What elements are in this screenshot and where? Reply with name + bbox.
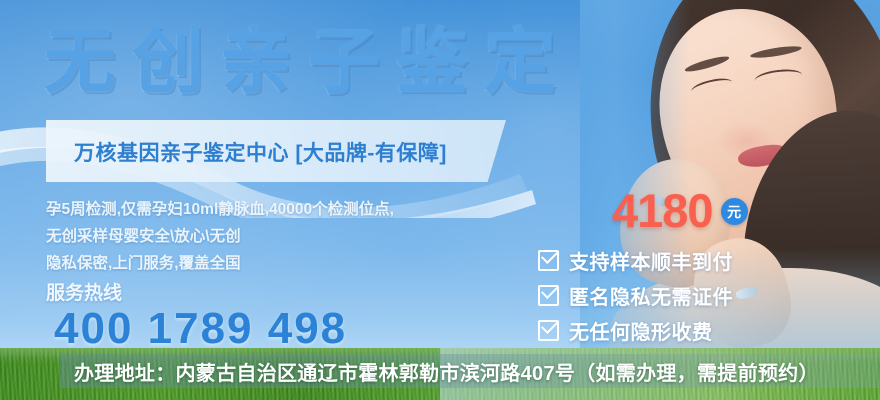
feature-list: 支持样本顺丰到付 匿名隐私无需证件 无任何隐形收费: [538, 243, 733, 348]
feature-label: 无任何隐形收费: [569, 316, 713, 345]
currency-unit-badge: 元: [721, 198, 748, 225]
list-item: 支持样本顺丰到付: [538, 243, 733, 278]
advertisement-banner: 无创亲子鉴定 万核基因亲子鉴定中心 [大品牌-有保障] 孕5周检测,仅需孕妇10…: [0, 0, 880, 400]
description-line: 隐私保密,上门服务,覆盖全国: [46, 250, 476, 277]
description-block: 孕5周检测,仅需孕妇10ml静脉血,40000个检测位点, 无创采样母婴安全\放…: [46, 196, 476, 277]
address-text: 办理地址：内蒙古自治区通辽市霍林郭勒市滨河路407号（如需办理，需提前预约）: [60, 357, 819, 386]
list-item: 无任何隐形收费: [538, 313, 733, 348]
description-line: 无创采样母婴安全\放心\无创: [46, 223, 476, 250]
description-line: 孕5周检测,仅需孕妇10ml静脉血,40000个检测位点,: [46, 196, 476, 223]
check-box-icon: [538, 285, 559, 306]
address-bar: 办理地址：内蒙古自治区通辽市霍林郭勒市滨河路407号（如需办理，需提前预约）: [60, 354, 880, 388]
check-box-icon: [538, 320, 559, 341]
brand-banner-text: 万核基因亲子鉴定中心 [大品牌-有保障]: [74, 132, 494, 172]
feature-label: 支持样本顺丰到付: [569, 246, 733, 275]
list-item: 匿名隐私无需证件: [538, 278, 733, 313]
hotline-label: 服务热线: [46, 278, 122, 305]
feature-label: 匿名隐私无需证件: [569, 281, 733, 310]
price-amount: 4180: [612, 186, 713, 236]
hotline-phone-number[interactable]: 400 1789 498: [54, 305, 347, 353]
price-block: 4180 元: [612, 186, 748, 236]
page-title: 无创亲子鉴定: [44, 14, 572, 110]
check-box-icon: [538, 250, 559, 271]
